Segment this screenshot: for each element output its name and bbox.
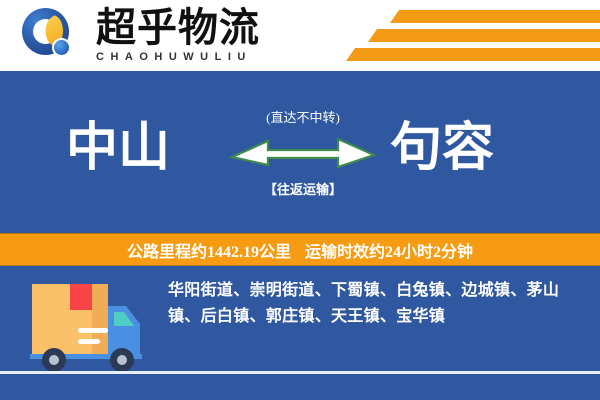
logistics-route-banner: 超乎物流 CHAOHUWULIU 中山 (直达不中转) 【往返运输】 句容 公路…	[0, 0, 600, 400]
route-note-direct: (直达不中转)	[228, 107, 378, 126]
double-headed-arrow-icon	[228, 131, 378, 175]
header: 超乎物流 CHAOHUWULIU	[0, 0, 600, 71]
ground-line	[0, 371, 600, 374]
brand-name-cn: 超乎物流	[96, 6, 260, 50]
orange-stripes-icon	[340, 8, 600, 66]
info-bar: 公路里程约1442.19公里 运输时效约24小时2分钟	[0, 233, 600, 266]
distance-label: 公路里程约1442.19公里	[127, 238, 291, 262]
origin-city: 中山	[66, 119, 170, 179]
route-arrow-group: (直达不中转) 【往返运输】	[228, 107, 378, 203]
logo-q-crescent-icon	[22, 8, 80, 66]
coverage-areas-text: 华阳街道、崇明街道、下蜀镇、白兔镇、边城镇、茅山镇、后白镇、郭庄镇、天王镇、宝华…	[168, 278, 582, 330]
brand-block: 超乎物流 CHAOHUWULIU	[96, 6, 260, 63]
logo-accent-dot	[52, 38, 71, 57]
duration-label: 运输时效约24小时2分钟	[305, 238, 473, 262]
delivery-truck-icon	[22, 272, 148, 376]
footer-section: 华阳街道、崇明街道、下蜀镇、白兔镇、边城镇、茅山镇、后白镇、郭庄镇、天王镇、宝华…	[0, 266, 600, 400]
stripe-top	[390, 10, 600, 23]
route-section: 中山 (直达不中转) 【往返运输】 句容	[0, 71, 600, 233]
brand-name-en: CHAOHUWULIU	[96, 51, 260, 63]
route-note-roundtrip: 【往返运输】	[228, 179, 378, 198]
stripe-middle	[368, 29, 600, 42]
stripe-bottom	[346, 48, 600, 61]
destination-city: 句容	[390, 119, 494, 179]
